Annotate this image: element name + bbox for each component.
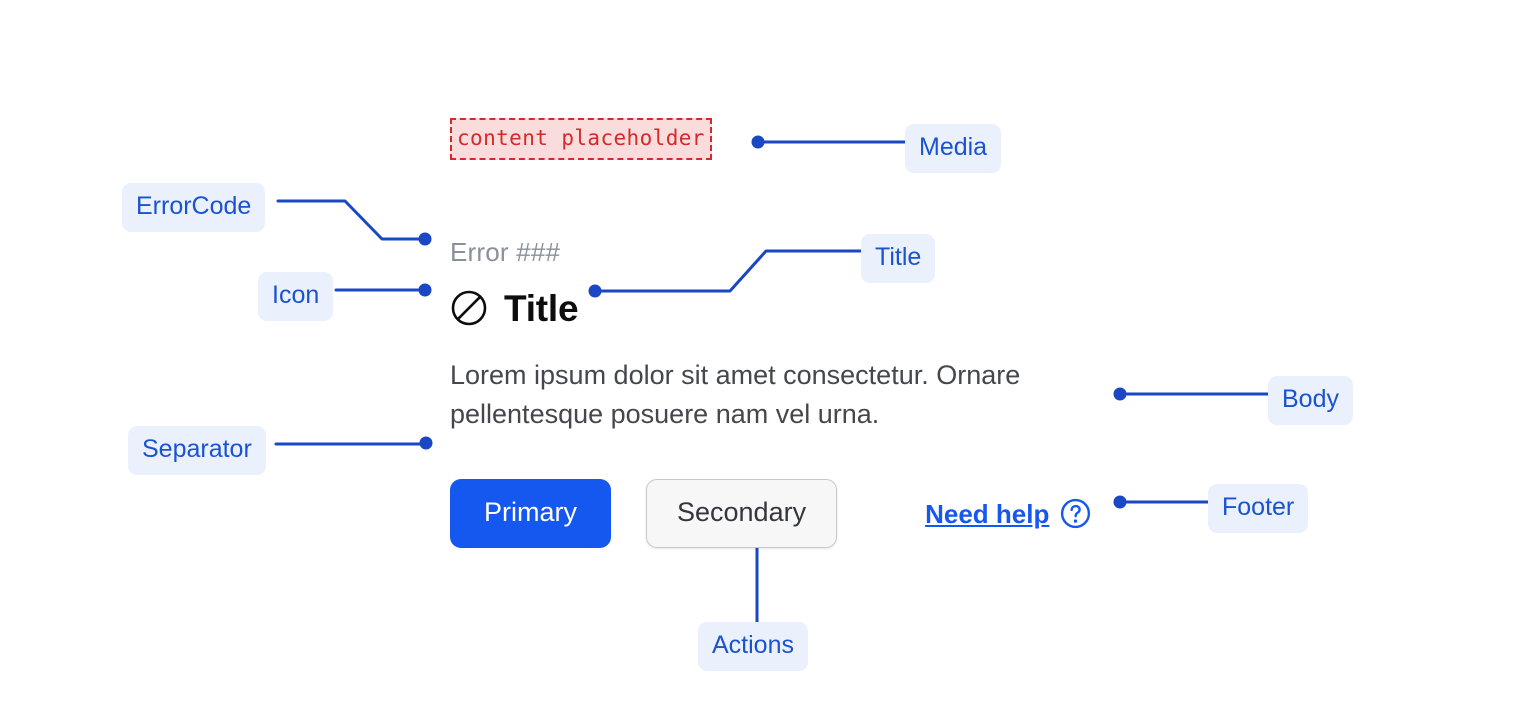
actions-row: Primary Secondary Need help (450, 479, 1110, 548)
annotation-chip-separator[interactable]: Separator (128, 426, 266, 475)
annotation-chip-actions[interactable]: Actions (698, 622, 808, 671)
secondary-button[interactable]: Secondary (646, 479, 837, 548)
media-content-placeholder: content placeholder (450, 118, 712, 160)
connector-dot-separator (420, 437, 433, 450)
diagram-canvas: content placeholder Error ### Title Lore… (0, 0, 1536, 724)
title-text: Title (504, 290, 578, 327)
connector-dot-icon (419, 284, 432, 297)
annotation-chip-body[interactable]: Body (1268, 376, 1353, 425)
annotation-chip-media[interactable]: Media (905, 124, 1001, 173)
error-state-component: content placeholder Error ### Title Lore… (450, 118, 1110, 548)
prohibited-icon (450, 289, 488, 327)
connector-dot-footer (1114, 496, 1127, 509)
annotation-chip-title[interactable]: Title (861, 234, 935, 283)
annotation-chip-errorcode[interactable]: ErrorCode (122, 183, 265, 232)
need-help-link[interactable]: Need help (925, 498, 1091, 529)
error-code-text: Error ### (450, 239, 1110, 265)
primary-button[interactable]: Primary (450, 479, 611, 548)
title-row: Title (450, 289, 1110, 327)
body-text: Lorem ipsum dolor sit amet consectetur. … (450, 356, 1095, 434)
connector-errorcode (278, 201, 424, 239)
connector-dot-body (1114, 388, 1127, 401)
annotation-chip-icon[interactable]: Icon (258, 272, 333, 321)
connector-dot-errorcode (419, 233, 432, 246)
annotation-chip-footer[interactable]: Footer (1208, 484, 1308, 533)
need-help-label: Need help (925, 501, 1049, 527)
help-circle-icon (1060, 498, 1091, 529)
